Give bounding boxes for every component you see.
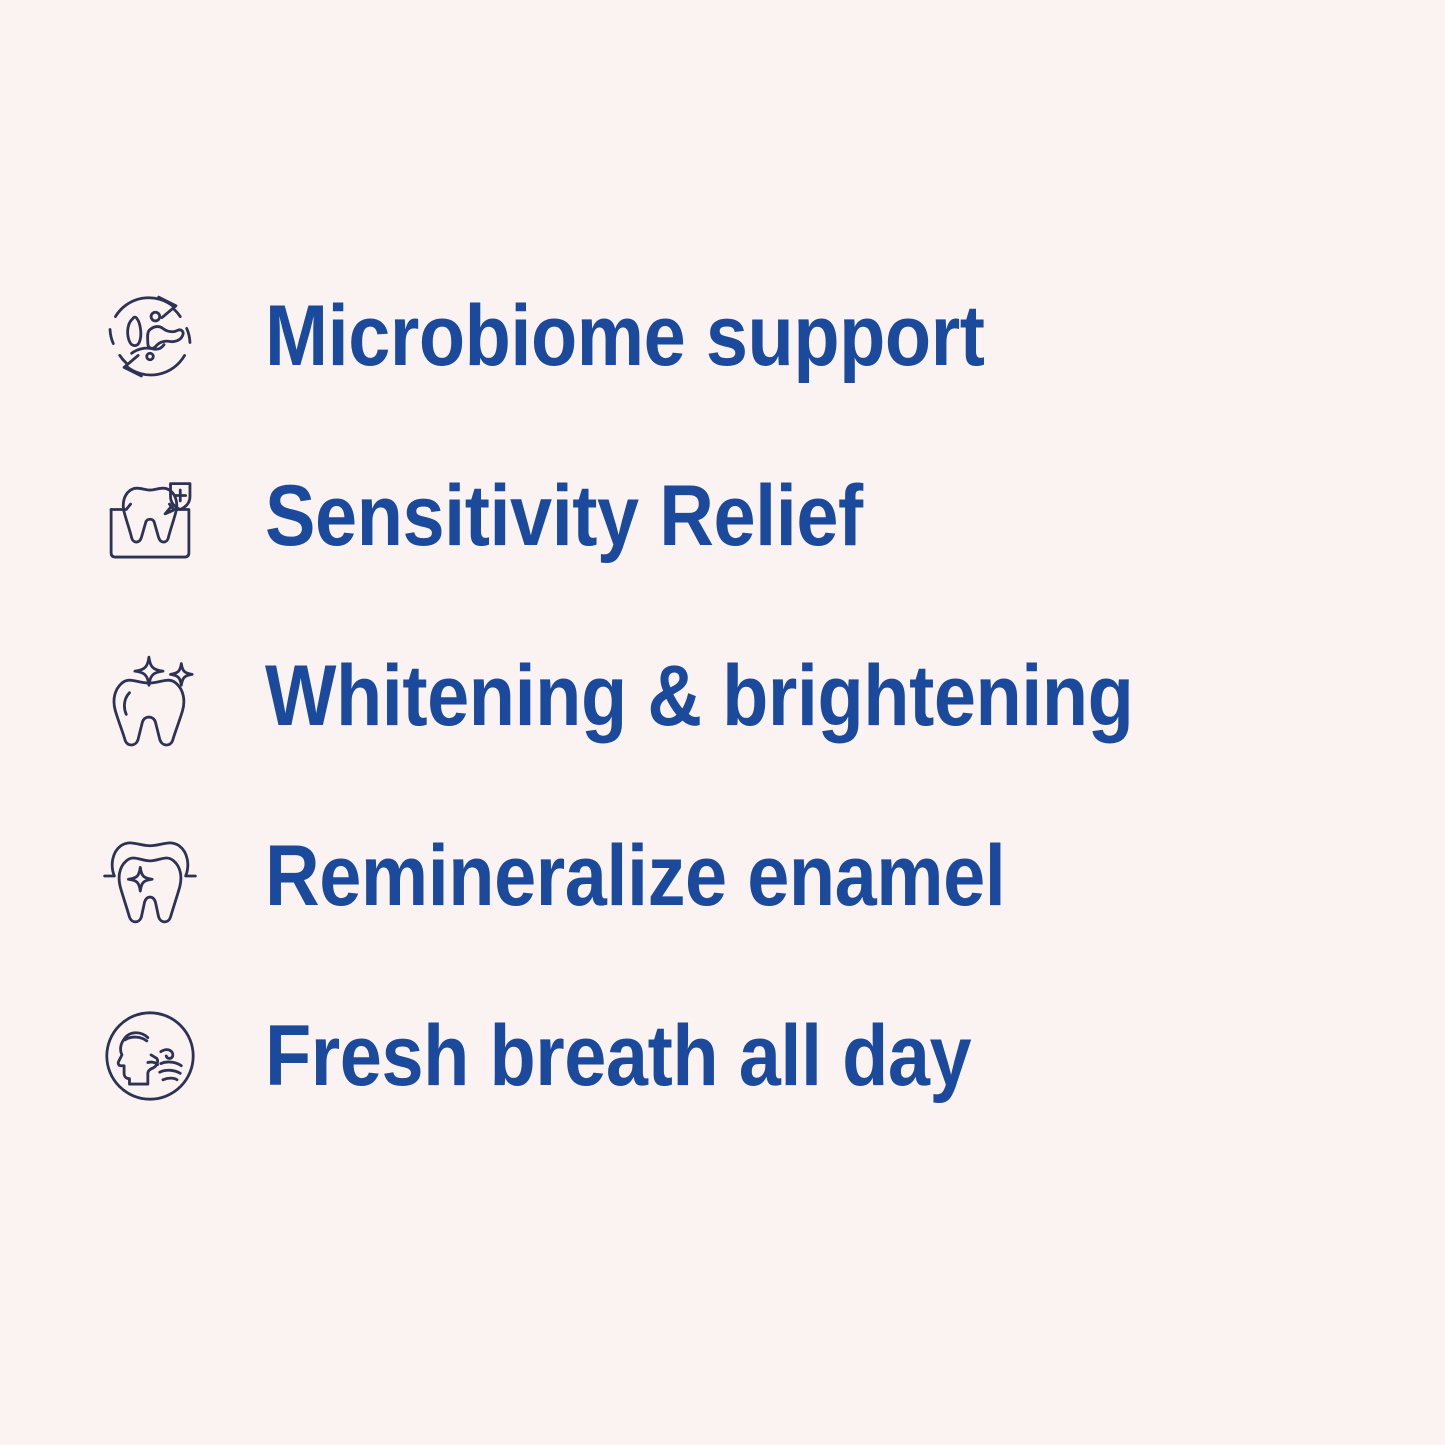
fresh-breath-head-icon <box>90 996 210 1116</box>
benefit-row: Whitening & brightening <box>90 622 1370 769</box>
benefits-page: Microbiome support Sensitivity Relief <box>0 0 1445 1445</box>
benefit-label: Sensitivity Relief <box>265 473 863 559</box>
benefit-label: Whitening & brightening <box>265 653 1133 739</box>
benefit-label: Fresh breath all day <box>265 1013 971 1099</box>
benefit-row: Fresh breath all day <box>90 982 1370 1129</box>
tooth-enamel-shield-icon <box>90 816 210 936</box>
tooth-sparkles-icon <box>90 636 210 756</box>
benefits-list: Microbiome support Sensitivity Relief <box>90 262 1370 1129</box>
benefit-row: Microbiome support <box>90 262 1370 409</box>
benefit-row: Sensitivity Relief <box>90 442 1370 589</box>
benefit-label: Remineralize enamel <box>265 833 1005 919</box>
benefit-row: Remineralize enamel <box>90 802 1370 949</box>
microbiome-refresh-icon <box>90 276 210 396</box>
tooth-gum-shield-icon <box>90 456 210 576</box>
benefit-label: Microbiome support <box>265 293 984 379</box>
